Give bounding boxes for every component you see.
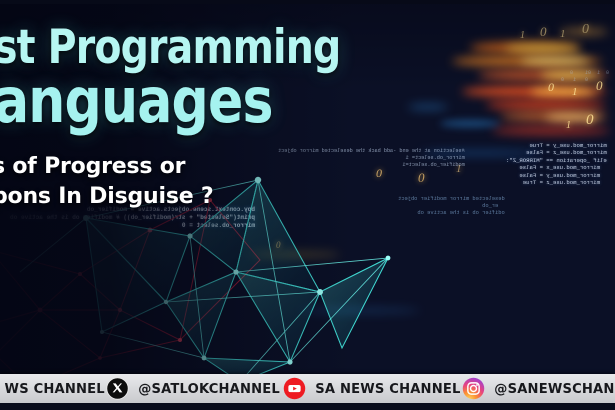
instagram-icon[interactable] <box>462 377 485 400</box>
youtube-icon[interactable] <box>283 377 306 400</box>
bottom-border-strip <box>0 403 615 410</box>
top-border-strip <box>0 0 615 4</box>
social-item-instagram[interactable]: @SANEWSCHANNEL <box>462 377 615 400</box>
subtitle: s of Progress or pons In Disguise ? <box>0 152 213 212</box>
news-channel-label: WS CHANNEL <box>5 381 105 397</box>
social-item-youtube[interactable]: SA NEWS CHANNEL <box>283 377 463 400</box>
social-media-bar: WS CHANNEL @SATLOKCHANNEL SA NEWS CHANNE… <box>0 374 615 403</box>
headline-line-2: anguages <box>0 70 340 132</box>
youtube-channel-label: SA NEWS CHANNEL <box>315 381 460 397</box>
instagram-handle-label: @SANEWSCHANNEL <box>495 381 615 397</box>
x-handle-label: @SATLOKCHANNEL <box>139 381 281 397</box>
social-item-x[interactable]: @SATLOKCHANNEL <box>106 377 282 400</box>
x-twitter-icon[interactable] <box>106 377 129 400</box>
social-item-news-channel[interactable]: WS CHANNEL <box>0 381 106 397</box>
headline: st Programming anguages <box>0 22 406 132</box>
subtitle-line-1: s of Progress or <box>0 152 213 182</box>
subtitle-line-2: pons In Disguise ? <box>0 182 213 212</box>
thumbnail-canvas: 0 1 0 1 0 1 0 0 1 0 0 1 0 0 1 01 0 0 1 0… <box>0 0 615 410</box>
